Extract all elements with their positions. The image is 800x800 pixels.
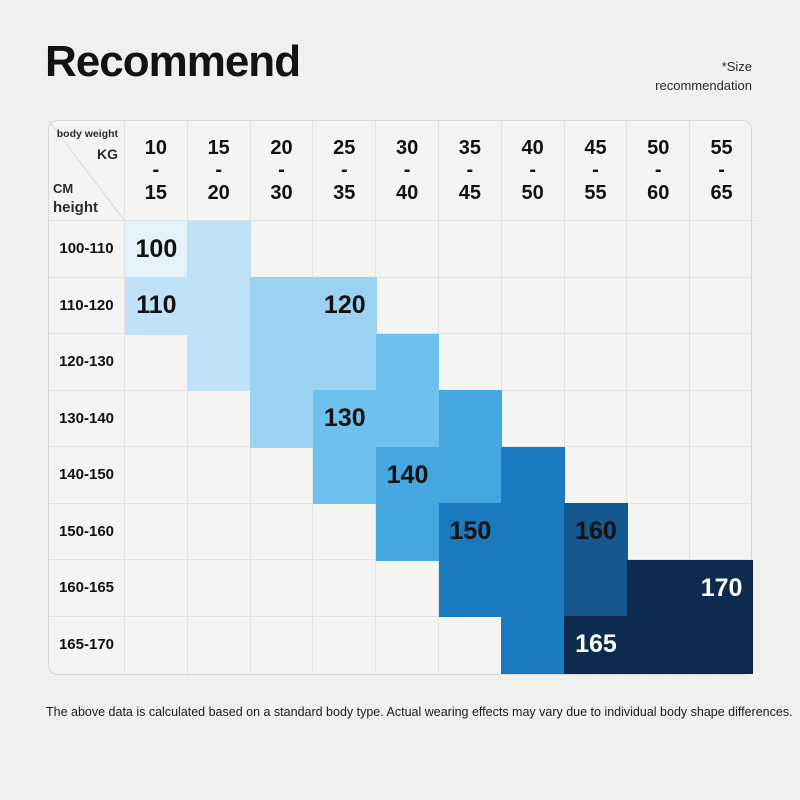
cell-r3-c5[interactable]: [376, 334, 439, 391]
cell-r1-c8[interactable]: [565, 221, 628, 278]
cell-r6-c8[interactable]: [565, 504, 628, 561]
height-axis-title: height: [53, 198, 98, 218]
column-header-3: 20 - 30: [251, 121, 314, 221]
cell-r3-c8[interactable]: [565, 334, 628, 391]
cell-r4-c8[interactable]: [565, 391, 628, 448]
cell-r2-c6[interactable]: [439, 278, 502, 335]
weight-axis-label: body weightKG: [57, 127, 118, 165]
cell-r7-c2[interactable]: [188, 560, 251, 617]
row-header-2: 110-120: [49, 278, 125, 335]
cell-r6-c5[interactable]: [376, 504, 439, 561]
cell-r2-c1[interactable]: [125, 278, 188, 335]
cell-r4-c10[interactable]: [690, 391, 753, 448]
cell-r2-c5[interactable]: [376, 278, 439, 335]
cell-r5-c10[interactable]: [690, 447, 753, 504]
cell-r3-c7[interactable]: [502, 334, 565, 391]
cell-r1-c5[interactable]: [376, 221, 439, 278]
cell-r5-c7[interactable]: [502, 447, 565, 504]
cell-r8-c6[interactable]: [439, 617, 502, 674]
cell-r3-c6[interactable]: [439, 334, 502, 391]
cell-r1-c1[interactable]: [125, 221, 188, 278]
cell-r6-c7[interactable]: [502, 504, 565, 561]
cell-r5-c8[interactable]: [565, 447, 628, 504]
size-chart-table: body weightKGCMheight10 - 1515 - 2020 - …: [48, 120, 752, 675]
height-axis-label: CMheight: [53, 180, 98, 218]
cell-r3-c2[interactable]: [188, 334, 251, 391]
column-header-1: 10 - 15: [125, 121, 188, 221]
cell-r5-c9[interactable]: [627, 447, 690, 504]
cell-r7-c7[interactable]: [502, 560, 565, 617]
cell-r3-c1[interactable]: [125, 334, 188, 391]
cell-r2-c2[interactable]: [188, 278, 251, 335]
cell-r7-c9[interactable]: [627, 560, 690, 617]
cell-r8-c3[interactable]: [251, 617, 314, 674]
cell-r3-c9[interactable]: [627, 334, 690, 391]
row-header-5: 140-150: [49, 447, 125, 504]
cell-r3-c4[interactable]: [313, 334, 376, 391]
cell-r2-c8[interactable]: [565, 278, 628, 335]
row-header-8: 165-170: [49, 617, 125, 674]
row-header-3: 120-130: [49, 334, 125, 391]
column-header-10: 55 - 65: [690, 121, 753, 221]
cell-r6-c2[interactable]: [188, 504, 251, 561]
cell-r7-c4[interactable]: [313, 560, 376, 617]
cell-r2-c3[interactable]: [251, 278, 314, 335]
cell-r5-c1[interactable]: [125, 447, 188, 504]
cell-r1-c3[interactable]: [251, 221, 314, 278]
cell-r1-c10[interactable]: [690, 221, 753, 278]
cell-r4-c7[interactable]: [502, 391, 565, 448]
cell-r5-c4[interactable]: [313, 447, 376, 504]
column-header-4: 25 - 35: [313, 121, 376, 221]
footer-disclaimer: The above data is calculated based on a …: [46, 705, 793, 719]
cell-r5-c2[interactable]: [188, 447, 251, 504]
cell-r4-c3[interactable]: [251, 391, 314, 448]
cell-r2-c10[interactable]: [690, 278, 753, 335]
cell-r1-c2[interactable]: [188, 221, 251, 278]
cell-r7-c5[interactable]: [376, 560, 439, 617]
row-header-4: 130-140: [49, 391, 125, 448]
column-header-7: 40 - 50: [502, 121, 565, 221]
page-title: Recommend: [45, 40, 300, 84]
column-header-2: 15 - 20: [188, 121, 251, 221]
note-line-1: *Size: [655, 58, 752, 77]
cell-r4-c1[interactable]: [125, 391, 188, 448]
cell-r1-c7[interactable]: [502, 221, 565, 278]
row-header-6: 150-160: [49, 504, 125, 561]
cell-r4-c5[interactable]: [376, 391, 439, 448]
cell-r8-c8[interactable]: [565, 617, 628, 674]
cell-r7-c1[interactable]: [125, 560, 188, 617]
cell-r5-c6[interactable]: [439, 447, 502, 504]
cell-r6-c3[interactable]: [251, 504, 314, 561]
size-recommendation-note: *Size recommendation: [655, 58, 752, 96]
cell-r8-c9[interactable]: [627, 617, 690, 674]
row-header-1: 100-110: [49, 221, 125, 278]
cell-r7-c10[interactable]: [690, 560, 753, 617]
cell-r4-c4[interactable]: [313, 391, 376, 448]
cell-r4-c9[interactable]: [627, 391, 690, 448]
cell-r1-c4[interactable]: [313, 221, 376, 278]
cell-r1-c9[interactable]: [627, 221, 690, 278]
column-header-8: 45 - 55: [565, 121, 628, 221]
cell-r7-c6[interactable]: [439, 560, 502, 617]
cell-r1-c6[interactable]: [439, 221, 502, 278]
cell-r5-c3[interactable]: [251, 447, 314, 504]
cell-r6-c9[interactable]: [627, 504, 690, 561]
column-header-9: 50 - 60: [627, 121, 690, 221]
cell-r5-c5[interactable]: [376, 447, 439, 504]
cell-r8-c2[interactable]: [188, 617, 251, 674]
column-header-6: 35 - 45: [439, 121, 502, 221]
height-axis-unit: CM: [53, 180, 98, 198]
cell-r2-c9[interactable]: [627, 278, 690, 335]
weight-axis-title: body weight: [57, 128, 118, 140]
cell-r4-c2[interactable]: [188, 391, 251, 448]
column-header-5: 30 - 40: [376, 121, 439, 221]
cell-r8-c7[interactable]: [502, 617, 565, 674]
cell-r8-c4[interactable]: [313, 617, 376, 674]
cell-r3-c3[interactable]: [251, 334, 314, 391]
cell-r8-c1[interactable]: [125, 617, 188, 674]
cell-r6-c10[interactable]: [690, 504, 753, 561]
cell-r8-c10[interactable]: [690, 617, 753, 674]
weight-axis-unit: KG: [57, 144, 118, 165]
cell-r6-c4[interactable]: [313, 504, 376, 561]
cell-r7-c3[interactable]: [251, 560, 314, 617]
size-recommendation-page: Recommend *Size recommendation body weig…: [0, 0, 800, 800]
cell-r4-c6[interactable]: [439, 391, 502, 448]
corner-cell: body weightKGCMheight: [49, 121, 125, 221]
cell-r3-c10[interactable]: [690, 334, 753, 391]
cell-r7-c8[interactable]: [565, 560, 628, 617]
row-header-7: 160-165: [49, 560, 125, 617]
cell-r6-c1[interactable]: [125, 504, 188, 561]
size-chart-grid: body weightKGCMheight10 - 1515 - 2020 - …: [49, 121, 751, 674]
cell-r2-c7[interactable]: [502, 278, 565, 335]
cell-r6-c6[interactable]: [439, 504, 502, 561]
note-line-2: recommendation: [655, 77, 752, 96]
cell-r2-c4[interactable]: [313, 278, 376, 335]
cell-r8-c5[interactable]: [376, 617, 439, 674]
